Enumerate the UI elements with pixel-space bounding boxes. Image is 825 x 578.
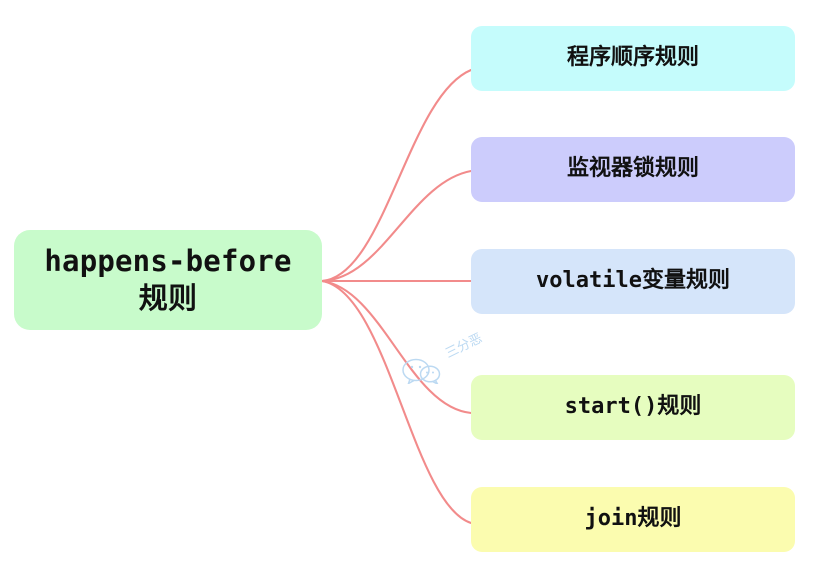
child-node-monitor-lock-rule[interactable]: 监视器锁规则 [471,137,795,202]
child-node-label: 程序顺序规则 [567,44,699,72]
watermark-text: 三分恶 [443,331,485,362]
mindmap-canvas: happens-before 规则 程序顺序规则 监视器锁规则 volatile… [0,0,825,578]
child-node-join-rule[interactable]: join规则 [471,487,795,552]
root-node-happens-before[interactable]: happens-before 规则 [14,230,322,330]
root-node-label: happens-before 规则 [44,243,291,317]
child-node-label: join规则 [585,505,682,533]
child-node-program-order-rule[interactable]: 程序顺序规则 [471,26,795,91]
child-node-volatile-variable-rule[interactable]: volatile变量规则 [471,249,795,314]
connector-edge [322,281,471,523]
connector-edge [322,281,471,413]
child-node-label: 监视器锁规则 [567,155,699,183]
child-node-label: start()规则 [565,393,702,421]
connector-edge [322,70,471,281]
child-node-start-rule[interactable]: start()规则 [471,375,795,440]
child-node-label: volatile变量规则 [536,267,730,295]
connector-edge [322,171,471,281]
